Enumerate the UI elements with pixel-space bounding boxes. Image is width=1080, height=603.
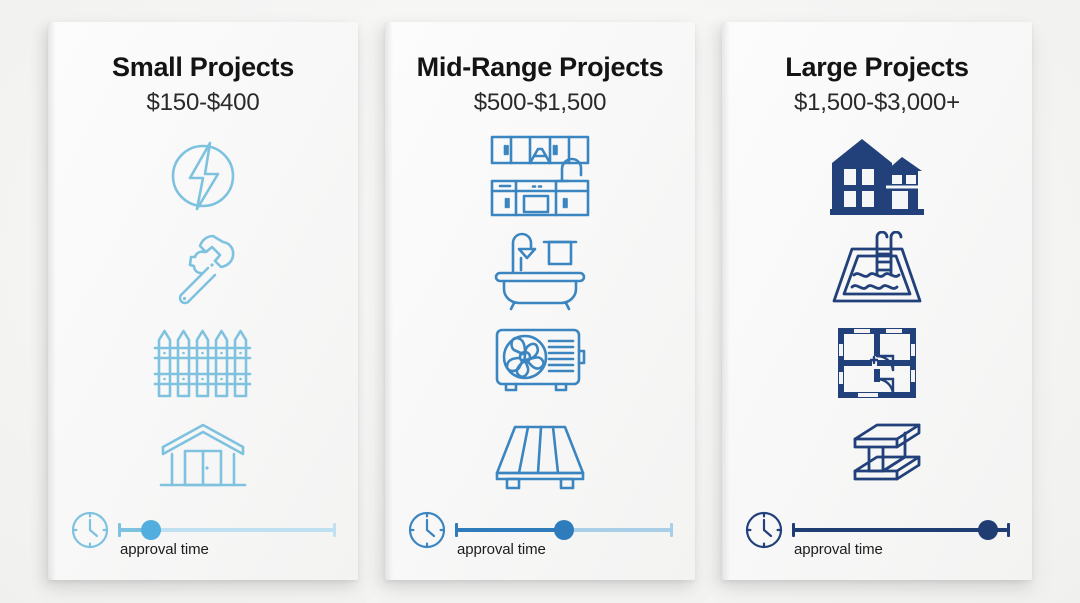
tier-price-small: $150-$400: [112, 91, 294, 115]
icon-slot-pool: [828, 228, 926, 312]
slider-start-cap: [118, 523, 121, 537]
slider-fill: [794, 528, 990, 532]
approval-meter-small: approval time: [66, 508, 340, 564]
icon-slot-hvac: [492, 321, 588, 405]
approval-time-label-small: approval time: [118, 541, 209, 558]
icon-stack-large: [740, 115, 1014, 508]
icon-slot-kitchen: [488, 134, 592, 218]
slider-start-cap: [455, 523, 458, 537]
approval-meter-body-mid-range: approval time: [455, 508, 673, 558]
tier-price-mid-range: $500-$1,500: [417, 91, 664, 115]
icon-slot-wrench: [163, 228, 243, 312]
tier-price-large: $1,500-$3,000+: [785, 91, 968, 115]
slider-knob[interactable]: [554, 520, 574, 540]
tier-card-small[interactable]: Small Projects $150-$400: [48, 22, 358, 580]
bathtub-shower-icon: [492, 229, 588, 311]
icon-slot-ibeam: [827, 415, 927, 499]
icon-stack-mid-range: [403, 115, 677, 508]
icon-slot-floorplan: [834, 321, 920, 405]
swimming-pool-icon: [828, 231, 926, 309]
approval-meter-large: approval time: [740, 508, 1014, 564]
lightning-bolt-circle-icon: [164, 136, 242, 216]
card-header-large: Large Projects $1,500-$3,000+: [785, 54, 968, 115]
slider-end-cap: [1007, 523, 1010, 537]
approval-meter-body-large: approval time: [792, 508, 1010, 558]
icon-slot-shed: [157, 415, 249, 499]
slider-knob[interactable]: [978, 520, 998, 540]
clock-icon: [407, 510, 447, 550]
approval-meter-body-small: approval time: [118, 508, 336, 558]
card-header-small: Small Projects $150-$400: [112, 54, 294, 115]
approval-meter-mid-range: approval time: [403, 508, 677, 564]
tier-card-mid-range[interactable]: Mid-Range Projects $500-$1,500: [385, 22, 695, 580]
tier-card-large[interactable]: Large Projects $1,500-$3,000+: [722, 22, 1032, 580]
approval-time-slider-small[interactable]: [118, 521, 336, 539]
card-header-mid-range: Mid-Range Projects $500-$1,500: [417, 54, 664, 115]
floor-plan-icon: [834, 324, 920, 402]
slider-end-cap: [333, 523, 336, 537]
kitchen-cabinets-icon: [488, 133, 592, 219]
garden-shed-icon: [157, 421, 249, 493]
slider-start-cap: [792, 523, 795, 537]
pricing-tier-board: Small Projects $150-$400: [0, 0, 1080, 603]
picket-fence-icon: [153, 326, 253, 400]
icon-stack-small: [66, 115, 340, 508]
icon-slot-deck: [491, 415, 589, 499]
tier-title-large: Large Projects: [785, 54, 968, 81]
slider-knob[interactable]: [141, 520, 161, 540]
icon-slot-lightning: [164, 134, 242, 218]
approval-time-label-mid-range: approval time: [455, 541, 546, 558]
tier-title-small: Small Projects: [112, 54, 294, 81]
icon-slot-fence: [153, 321, 253, 405]
slider-end-cap: [670, 523, 673, 537]
clock-icon: [744, 510, 784, 550]
approval-time-slider-large[interactable]: [792, 521, 1010, 539]
icon-slot-house: [828, 134, 926, 218]
tier-title-mid-range: Mid-Range Projects: [417, 54, 664, 81]
icon-slot-bathtub: [492, 228, 588, 312]
pipe-wrench-icon: [163, 230, 243, 310]
clock-icon: [70, 510, 110, 550]
hvac-condenser-icon: [492, 325, 588, 401]
two-story-house-icon: [828, 133, 926, 219]
slider-fill: [457, 528, 566, 532]
steel-i-beam-icon: [827, 419, 927, 495]
approval-time-slider-mid-range[interactable]: [455, 521, 673, 539]
approval-time-label-large: approval time: [792, 541, 883, 558]
deck-platform-icon: [491, 421, 589, 493]
